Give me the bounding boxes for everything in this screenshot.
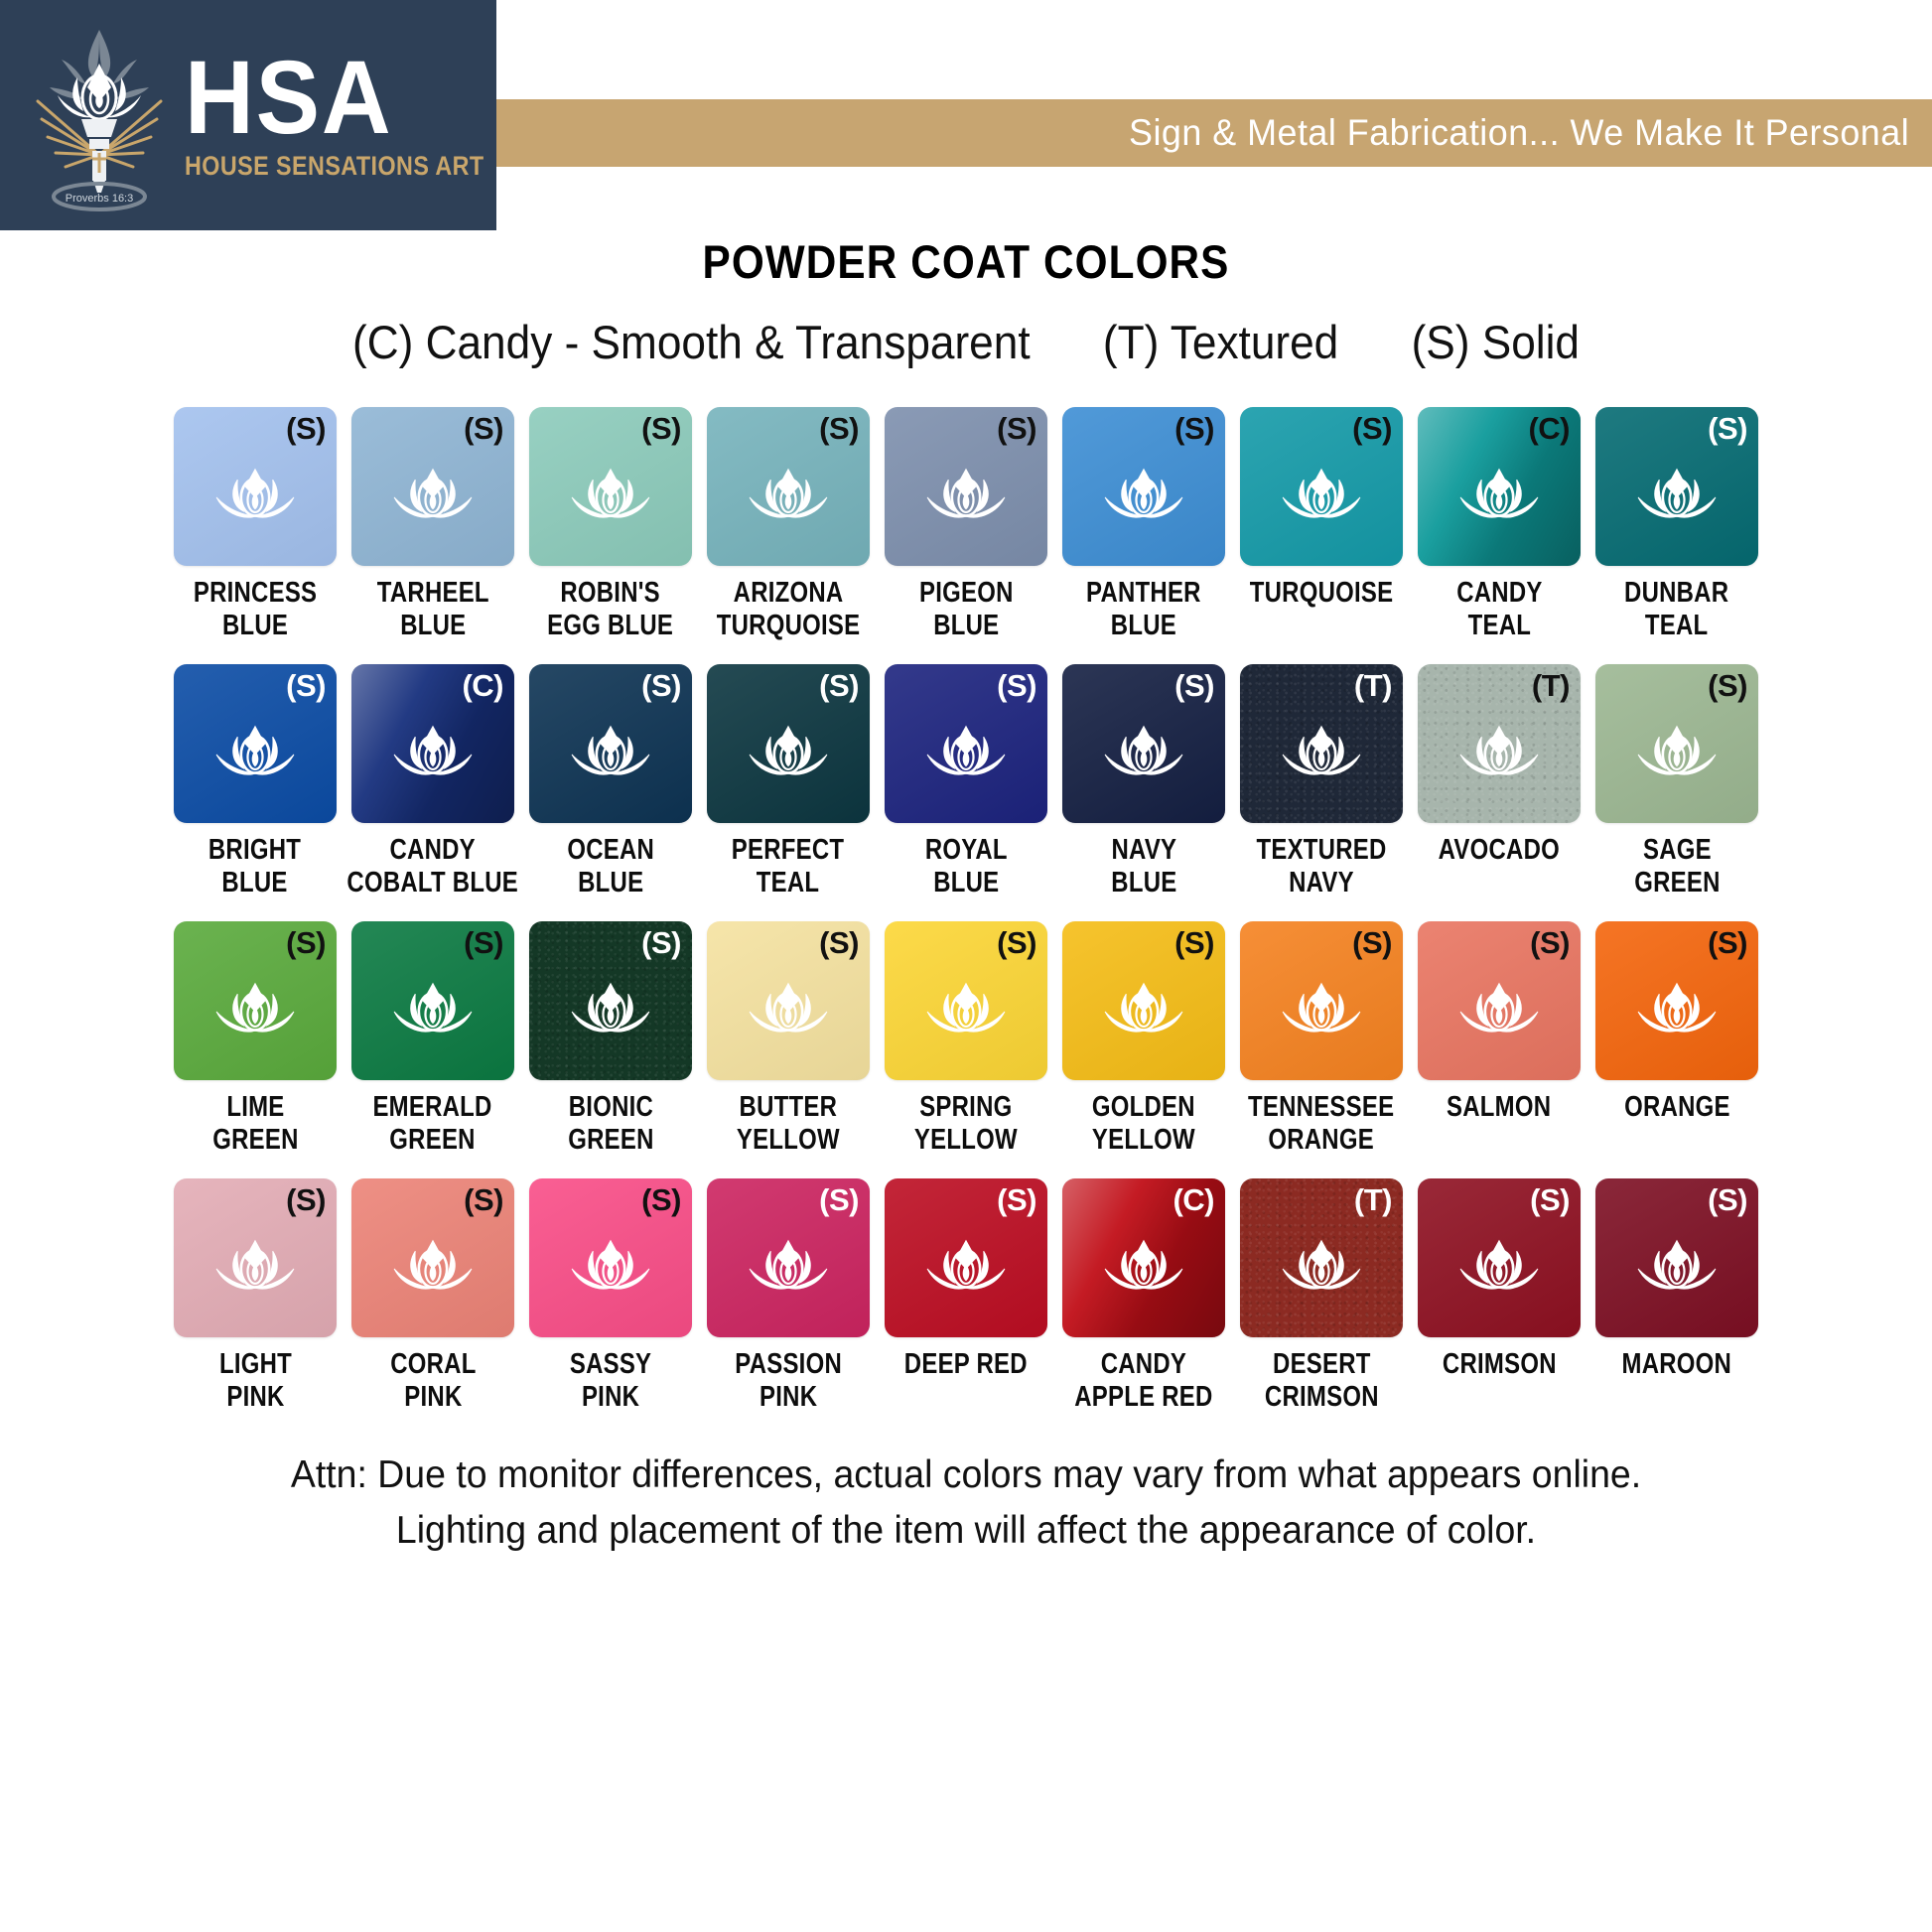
- swatch-cell[interactable]: (S) CORALPINK: [351, 1178, 514, 1414]
- finish-badge: (C): [462, 670, 503, 701]
- swatch-cell[interactable]: (S) DUNBARTEAL: [1595, 407, 1758, 642]
- lotus-icon: [566, 723, 655, 784]
- swatch-cell[interactable]: (S) TENNESSEEORANGE: [1240, 921, 1403, 1157]
- swatch-label: TEXTUREDNAVY: [1256, 834, 1386, 899]
- finish-badge: (T): [1354, 1184, 1392, 1215]
- swatch-cell[interactable]: (S) TURQUOISE: [1240, 407, 1403, 642]
- swatch-cell[interactable]: (S) OCEANBLUE: [529, 664, 692, 899]
- legend-textured: (T) Textured: [1103, 315, 1338, 369]
- swatch-label: NAVYBLUE: [1111, 834, 1176, 899]
- color-swatch[interactable]: (S): [351, 407, 514, 566]
- swatch-cell[interactable]: (S) PANTHERBLUE: [1062, 407, 1225, 642]
- color-swatch[interactable]: (C): [1418, 407, 1581, 566]
- color-swatch[interactable]: (S): [529, 407, 692, 566]
- lotus-icon: [1277, 466, 1366, 527]
- swatch-label: BUTTERYELLOW: [737, 1091, 840, 1157]
- lotus-icon: [1099, 980, 1188, 1041]
- swatch-cell[interactable]: (S) MAROON: [1595, 1178, 1758, 1414]
- color-swatch[interactable]: (S): [1595, 664, 1758, 823]
- swatch-cell[interactable]: (S) GOLDENYELLOW: [1062, 921, 1225, 1157]
- swatch-label: CANDYCOBALT BLUE: [347, 834, 519, 899]
- swatch-row: (S) LIMEGREEN (S) EMERALDGREEN: [174, 921, 1758, 1157]
- finish-badge: (C): [1528, 413, 1570, 444]
- lotus-icon: [388, 466, 478, 527]
- lotus-icon: [921, 1237, 1011, 1299]
- swatch-label: BRIGHTBLUE: [208, 834, 301, 899]
- color-swatch[interactable]: (S): [707, 1178, 870, 1337]
- swatch-label: DEEP RED: [904, 1348, 1028, 1381]
- color-swatch[interactable]: (S): [1240, 921, 1403, 1080]
- lotus-icon: [921, 466, 1011, 527]
- lotus-icon: [1632, 1237, 1722, 1299]
- finish-badge: (S): [286, 927, 326, 958]
- lotus-icon: [744, 980, 833, 1041]
- finish-badge: (S): [1708, 1184, 1747, 1215]
- color-swatch[interactable]: (S): [529, 1178, 692, 1337]
- finish-badge: (S): [286, 413, 326, 444]
- swatch-label: CANDYAPPLE RED: [1074, 1348, 1212, 1414]
- finish-badge: (S): [1352, 413, 1392, 444]
- finish-badge: (S): [997, 670, 1036, 701]
- color-swatch[interactable]: (T): [1418, 664, 1581, 823]
- color-swatch[interactable]: (S): [885, 664, 1047, 823]
- lotus-torch-icon: Proverbs 16:3: [20, 16, 179, 214]
- swatch-cell[interactable]: (S) ROYALBLUE: [885, 664, 1047, 899]
- swatch-label: AVOCADO: [1439, 834, 1560, 867]
- color-swatch[interactable]: (S): [1240, 407, 1403, 566]
- swatch-cell[interactable]: (S) LIMEGREEN: [174, 921, 337, 1157]
- lotus-icon: [388, 1237, 478, 1299]
- lotus-icon: [921, 723, 1011, 784]
- finish-badge: (S): [1352, 927, 1392, 958]
- color-swatch[interactable]: (S): [707, 921, 870, 1080]
- color-swatch[interactable]: (S): [1418, 921, 1581, 1080]
- swatch-cell[interactable]: (S) ORANGE: [1595, 921, 1758, 1157]
- brand-logo: Proverbs 16:3 HSA HOUSE SENSATIONS ART: [0, 0, 496, 230]
- swatch-cell[interactable]: (S) DEEP RED: [885, 1178, 1047, 1414]
- swatch-row: (S) BRIGHTBLUE (C) CANDYCOBALT BLUE: [174, 664, 1758, 899]
- disclaimer-line-1: Attn: Due to monitor differences, actual…: [39, 1448, 1893, 1502]
- legend-candy: (C) Candy - Smooth & Transparent: [352, 315, 1031, 369]
- lotus-icon: [1277, 723, 1366, 784]
- finish-badge: (S): [1174, 413, 1214, 444]
- color-swatch[interactable]: (C): [351, 664, 514, 823]
- swatch-cell[interactable]: (C) CANDYAPPLE RED: [1062, 1178, 1225, 1414]
- lotus-icon: [744, 466, 833, 527]
- swatch-label: OCEANBLUE: [567, 834, 654, 899]
- color-swatch[interactable]: (S): [174, 1178, 337, 1337]
- color-swatch[interactable]: (S): [529, 921, 692, 1080]
- finish-badge: (S): [641, 413, 681, 444]
- swatch-cell[interactable]: (S) BIONICGREEN: [529, 921, 692, 1157]
- finish-badge: (T): [1354, 670, 1392, 701]
- swatch-label: ARIZONATURQUOISE: [717, 577, 861, 642]
- swatch-label: PRINCESSBLUE: [194, 577, 317, 642]
- swatch-cell[interactable]: (S) SPRINGYELLOW: [885, 921, 1047, 1157]
- finish-badge: (S): [997, 413, 1036, 444]
- finish-badge: (S): [641, 670, 681, 701]
- swatch-label: EMERALDGREEN: [373, 1091, 492, 1157]
- swatch-cell[interactable]: (S) BRIGHTBLUE: [174, 664, 337, 899]
- color-swatch[interactable]: (S): [529, 664, 692, 823]
- color-swatch[interactable]: (S): [174, 921, 337, 1080]
- lotus-icon: [388, 723, 478, 784]
- lotus-icon: [1277, 980, 1366, 1041]
- color-swatch[interactable]: (S): [707, 664, 870, 823]
- color-swatch[interactable]: (S): [707, 407, 870, 566]
- finish-badge: (S): [1174, 927, 1214, 958]
- color-swatch[interactable]: (T): [1240, 1178, 1403, 1337]
- color-swatch[interactable]: (S): [1595, 1178, 1758, 1337]
- finish-badge: (S): [464, 1184, 503, 1215]
- lotus-icon: [1277, 1237, 1366, 1299]
- color-swatch[interactable]: (S): [351, 1178, 514, 1337]
- color-swatch[interactable]: (S): [174, 664, 337, 823]
- finish-badge: (S): [1708, 670, 1747, 701]
- finish-badge: (S): [286, 1184, 326, 1215]
- lotus-icon: [210, 723, 300, 784]
- finish-badge: (C): [1173, 1184, 1214, 1215]
- swatch-row: (S) PRINCESSBLUE (S) TARHEELBLUE: [174, 407, 1758, 642]
- lotus-icon: [1454, 1237, 1544, 1299]
- swatch-cell[interactable]: (S) EMERALDGREEN: [351, 921, 514, 1157]
- swatch-label: SALMON: [1447, 1091, 1551, 1124]
- swatch-cell[interactable]: (C) CANDYTEAL: [1418, 407, 1581, 642]
- lotus-icon: [1632, 466, 1722, 527]
- swatch-label: TENNESSEEORANGE: [1248, 1091, 1394, 1157]
- lotus-icon: [744, 723, 833, 784]
- finish-badge: (S): [464, 413, 503, 444]
- lotus-icon: [744, 1237, 833, 1299]
- swatch-label: ORANGE: [1624, 1091, 1730, 1124]
- swatch-label: CORALPINK: [390, 1348, 476, 1414]
- lotus-icon: [1632, 723, 1722, 784]
- color-swatch[interactable]: (S): [174, 407, 337, 566]
- swatch-row: (S) LIGHTPINK (S) CORALPINK: [174, 1178, 1758, 1414]
- swatch-cell[interactable]: (S) NAVYBLUE: [1062, 664, 1225, 899]
- swatch-label: CANDYTEAL: [1456, 577, 1542, 642]
- swatch-label: PERFECTTEAL: [732, 834, 844, 899]
- swatch-cell[interactable]: (S) SASSYPINK: [529, 1178, 692, 1414]
- color-swatch[interactable]: (T): [1240, 664, 1403, 823]
- lotus-icon: [388, 980, 478, 1041]
- disclaimer: Attn: Due to monitor differences, actual…: [39, 1448, 1893, 1558]
- finish-badge: (S): [819, 927, 859, 958]
- swatch-label: DESERTCRIMSON: [1265, 1348, 1379, 1414]
- swatch-label: MAROON: [1622, 1348, 1732, 1381]
- swatch-cell[interactable]: (S) PERFECTTEAL: [707, 664, 870, 899]
- swatch-label: LIMEGREEN: [212, 1091, 298, 1157]
- color-swatch[interactable]: (S): [885, 921, 1047, 1080]
- legend-solid: (S) Solid: [1412, 315, 1580, 369]
- swatch-label: BIONICGREEN: [568, 1091, 653, 1157]
- swatch-label: ROBIN'SEGG BLUE: [547, 577, 673, 642]
- lotus-icon: [210, 466, 300, 527]
- finish-legend: (C) Candy - Smooth & Transparent (T) Tex…: [58, 315, 1873, 369]
- lotus-icon: [210, 1237, 300, 1299]
- brand-name: HOUSE SENSATIONS ART: [185, 151, 484, 182]
- lotus-icon: [566, 1237, 655, 1299]
- page-header: Proverbs 16:3 HSA HOUSE SENSATIONS ART S…: [0, 0, 1932, 230]
- lotus-icon: [1099, 1237, 1188, 1299]
- lotus-icon: [566, 980, 655, 1041]
- swatch-label: DUNBARTEAL: [1624, 577, 1728, 642]
- disclaimer-line-2: Lighting and placement of the item will …: [39, 1503, 1893, 1558]
- color-swatch[interactable]: (S): [885, 1178, 1047, 1337]
- finish-badge: (S): [1174, 670, 1214, 701]
- swatch-cell[interactable]: (S) SAGEGREEN: [1595, 664, 1758, 899]
- swatch-label: ROYALBLUE: [925, 834, 1008, 899]
- lotus-icon: [1454, 980, 1544, 1041]
- color-swatch[interactable]: (S): [1062, 921, 1225, 1080]
- swatch-label: LIGHTPINK: [218, 1348, 291, 1414]
- finish-badge: (S): [997, 1184, 1036, 1215]
- swatch-cell[interactable]: (S) BUTTERYELLOW: [707, 921, 870, 1157]
- lotus-icon: [921, 980, 1011, 1041]
- swatch-label: TURQUOISE: [1250, 577, 1394, 610]
- swatch-label: GOLDENYELLOW: [1092, 1091, 1195, 1157]
- swatch-label: SASSYPINK: [570, 1348, 651, 1414]
- finish-badge: (S): [641, 927, 681, 958]
- swatch-cell[interactable]: (T) TEXTUREDNAVY: [1240, 664, 1403, 899]
- color-swatch[interactable]: (S): [351, 921, 514, 1080]
- tagline-text: Sign & Metal Fabrication... We Make It P…: [1129, 112, 1932, 154]
- swatch-label: SPRINGYELLOW: [914, 1091, 1018, 1157]
- swatch-cell[interactable]: (S) PASSIONPINK: [707, 1178, 870, 1414]
- finish-badge: (S): [286, 670, 326, 701]
- scripture-text: Proverbs 16:3: [66, 193, 133, 205]
- swatch-label: PASSIONPINK: [735, 1348, 842, 1414]
- lotus-icon: [1454, 466, 1544, 527]
- finish-badge: (S): [819, 413, 859, 444]
- swatch-label: PIGEONBLUE: [919, 577, 1014, 642]
- color-swatch[interactable]: (C): [1062, 1178, 1225, 1337]
- swatch-cell[interactable]: (S) SALMON: [1418, 921, 1581, 1157]
- lotus-icon: [1454, 723, 1544, 784]
- swatch-cell[interactable]: (S) PIGEONBLUE: [885, 407, 1047, 642]
- swatch-label: CRIMSON: [1443, 1348, 1557, 1381]
- swatch-cell[interactable]: (T) DESERTCRIMSON: [1240, 1178, 1403, 1414]
- color-swatch[interactable]: (S): [1595, 921, 1758, 1080]
- lotus-icon: [566, 466, 655, 527]
- swatch-cell[interactable]: (S) ROBIN'SEGG BLUE: [529, 407, 692, 642]
- finish-badge: (S): [1530, 927, 1570, 958]
- color-swatch[interactable]: (S): [1062, 664, 1225, 823]
- swatch-label: SAGEGREEN: [1634, 834, 1720, 899]
- swatch-cell[interactable]: (T) AVOCADO: [1418, 664, 1581, 899]
- color-swatch[interactable]: (S): [885, 407, 1047, 566]
- swatch-cell[interactable]: (S) PRINCESSBLUE: [174, 407, 337, 642]
- lotus-icon: [1099, 466, 1188, 527]
- page-title: POWDER COAT COLORS: [96, 234, 1835, 289]
- finish-badge: (S): [1530, 1184, 1570, 1215]
- swatch-cell[interactable]: (S) TARHEELBLUE: [351, 407, 514, 642]
- finish-badge: (S): [1708, 927, 1747, 958]
- finish-badge: (S): [1708, 413, 1747, 444]
- color-swatch[interactable]: (S): [1595, 407, 1758, 566]
- tagline-bar: Sign & Metal Fabrication... We Make It P…: [496, 99, 1932, 167]
- lotus-icon: [1099, 723, 1188, 784]
- swatch-label: TARHEELBLUE: [376, 577, 488, 642]
- color-swatch[interactable]: (S): [1418, 1178, 1581, 1337]
- finish-badge: (S): [819, 1184, 859, 1215]
- swatch-cell[interactable]: (S) ARIZONATURQUOISE: [707, 407, 870, 642]
- title-block: POWDER COAT COLORS (C) Candy - Smooth & …: [0, 234, 1932, 369]
- finish-badge: (T): [1532, 670, 1570, 701]
- swatch-cell[interactable]: (S) CRIMSON: [1418, 1178, 1581, 1414]
- lotus-icon: [210, 980, 300, 1041]
- finish-badge: (S): [819, 670, 859, 701]
- brand-initials: HSA: [185, 49, 497, 148]
- powder-coat-color-chart: Proverbs 16:3 HSA HOUSE SENSATIONS ART S…: [0, 0, 1932, 1932]
- swatch-label: PANTHERBLUE: [1086, 577, 1201, 642]
- color-swatch[interactable]: (S): [1062, 407, 1225, 566]
- finish-badge: (S): [464, 927, 503, 958]
- swatch-cell[interactable]: (S) LIGHTPINK: [174, 1178, 337, 1414]
- swatch-cell[interactable]: (C) CANDYCOBALT BLUE: [351, 664, 514, 899]
- finish-badge: (S): [997, 927, 1036, 958]
- lotus-icon: [1632, 980, 1722, 1041]
- swatch-grid: (S) PRINCESSBLUE (S) TARHEELBLUE: [0, 407, 1932, 1414]
- finish-badge: (S): [641, 1184, 681, 1215]
